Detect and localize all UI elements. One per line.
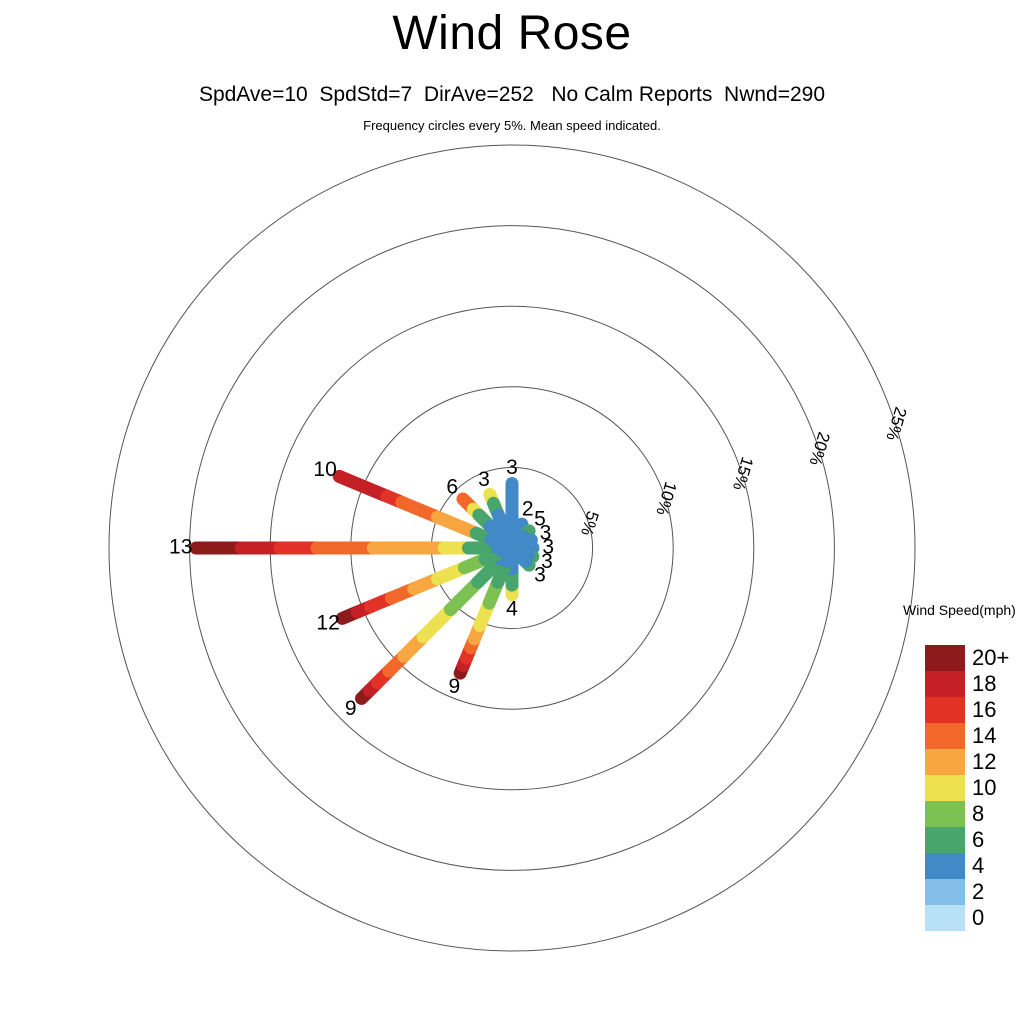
ring-tick-label: 5%: [577, 509, 602, 538]
legend-row: 0: [925, 905, 989, 931]
petal-mean-speed-label: 9: [448, 675, 460, 698]
legend-color-swatch: [925, 723, 965, 749]
petal-mean-speed-label: 3: [506, 456, 518, 479]
ring-tick-label: 25%: [882, 405, 910, 443]
legend-row: 4: [925, 853, 989, 879]
petal-segment: [339, 476, 387, 496]
legend-label: 18: [972, 671, 996, 697]
ring-tick-label: 20%: [806, 430, 834, 468]
legend-label: 16: [972, 697, 996, 723]
petals-group: [196, 476, 533, 698]
legend-row: 16: [925, 697, 989, 723]
legend-row: 18: [925, 671, 989, 697]
legend-label: 20+: [972, 645, 1009, 671]
legend-row: 10: [925, 775, 989, 801]
ring-tick-label: 10%: [652, 479, 680, 517]
petal-mean-speed-label: 10: [313, 458, 336, 481]
legend-label: 8: [972, 801, 984, 827]
legend-color-swatch: [925, 671, 965, 697]
wind-speed-legend: 20+181614121086420: [925, 645, 989, 931]
legend-row: 2: [925, 879, 989, 905]
legend-label: 12: [972, 749, 996, 775]
petal-mean-speed-label: 12: [316, 612, 339, 635]
legend-row: 12: [925, 749, 989, 775]
legend-row: 20+: [925, 645, 989, 671]
petal-mean-speed-label: 2: [522, 498, 534, 521]
petal-mean-speed-label: 6: [446, 476, 458, 499]
legend-row: 14: [925, 723, 989, 749]
petal-mean-speed-label: 4: [506, 598, 518, 621]
legend-color-swatch: [925, 905, 965, 931]
legend-color-swatch: [925, 801, 965, 827]
petal-mean-speed-label: 3: [478, 468, 490, 491]
legend-label: 6: [972, 827, 984, 853]
wind-rose-plot: 5%10%15%20%25% 325333349912131063: [0, 0, 1024, 1024]
legend-title: Wind Speed(mph): [903, 602, 1016, 618]
legend-label: 14: [972, 723, 996, 749]
legend-label: 10: [972, 775, 996, 801]
legend-color-swatch: [925, 879, 965, 905]
legend-label: 0: [972, 905, 984, 931]
legend-color-swatch: [925, 749, 965, 775]
legend-color-swatch: [925, 853, 965, 879]
ring-tick-label: 15%: [729, 455, 757, 493]
legend-color-swatch: [925, 697, 965, 723]
ring-tick-labels: 5%10%15%20%25%: [577, 405, 910, 538]
legend-color-swatch: [925, 827, 965, 853]
legend-row: 6: [925, 827, 989, 853]
legend-color-swatch: [925, 775, 965, 801]
legend-color-swatch: [925, 645, 965, 671]
petal-mean-speed-label: 13: [169, 536, 192, 559]
legend-row: 8: [925, 801, 989, 827]
legend-label: 4: [972, 853, 984, 879]
petal-mean-speed-label: 3: [534, 563, 546, 586]
wind-rose-page: Wind Rose SpdAve=10 SpdStd=7 DirAve=252 …: [0, 0, 1024, 1024]
petal-mean-speed-label: 9: [345, 697, 357, 720]
legend-label: 2: [972, 879, 984, 905]
